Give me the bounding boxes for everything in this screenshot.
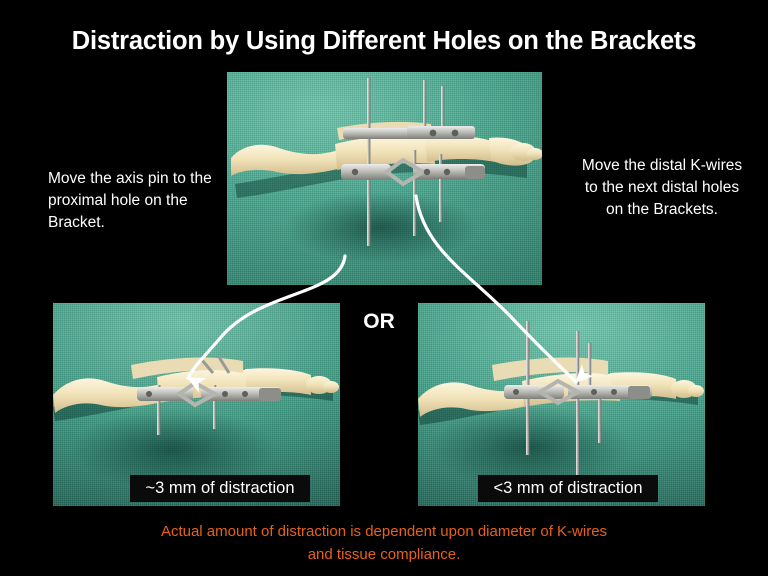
left-instruction-text: Move the axis pin to the proximal hole o… bbox=[48, 168, 228, 234]
photo-distal-kwires-moved: <3 mm of distraction bbox=[418, 303, 705, 506]
page-title: Distraction by Using Different Holes on … bbox=[0, 27, 768, 56]
footer-line-2: and tissue compliance. bbox=[0, 543, 768, 566]
photo-fixator-before-distraction bbox=[227, 72, 542, 285]
or-separator-label: OR bbox=[352, 310, 406, 334]
footer-line-1: Actual amount of distraction is dependen… bbox=[0, 520, 768, 543]
photo-axis-pin-moved-proximal: ~3 mm of distraction bbox=[53, 303, 340, 506]
top-photo-illustration bbox=[227, 72, 542, 285]
caption-left: ~3 mm of distraction bbox=[130, 475, 310, 502]
right-instruction-text: Move the distal K-wires to the next dist… bbox=[578, 155, 746, 221]
slide-canvas: Distraction by Using Different Holes on … bbox=[0, 0, 768, 576]
footer-note: Actual amount of distraction is dependen… bbox=[0, 520, 768, 567]
caption-right: <3 mm of distraction bbox=[478, 475, 658, 502]
